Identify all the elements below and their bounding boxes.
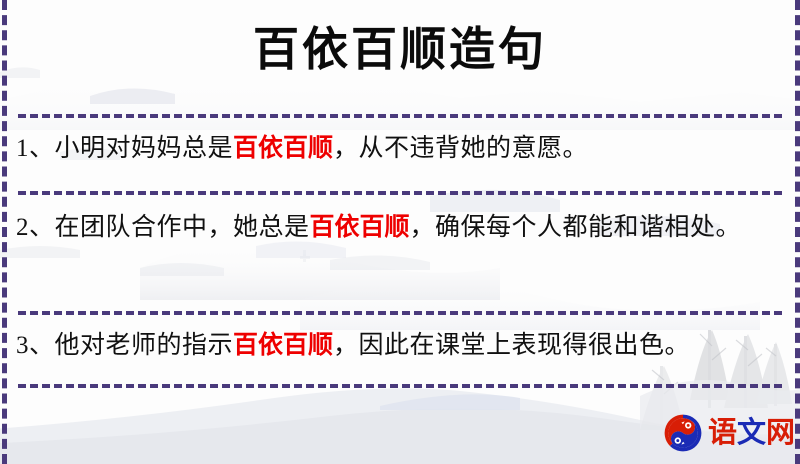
sentence-3-text-after: ，因此在课堂上表现得很出色。 xyxy=(333,332,690,359)
divider-after-sentence-3 xyxy=(18,384,782,388)
sentence-3-text-before: 他对老师的指示 xyxy=(55,332,234,359)
sentence-3-number: 3、 xyxy=(16,332,55,359)
sentence-2-idiom: 百依百顺 xyxy=(310,214,410,241)
site-logo[interactable]: 语文网 xyxy=(663,410,793,456)
sentence-3-idiom: 百依百顺 xyxy=(233,332,333,359)
sentence-1-text-after: ，从不违背她的意愿。 xyxy=(333,135,588,162)
right-dashed-border xyxy=(795,0,800,464)
left-dashed-border xyxy=(2,0,7,464)
logo-char-yu: 语 xyxy=(708,417,737,449)
page-title: 百依百顺造句 xyxy=(0,22,800,78)
divider-after-sentence-2 xyxy=(18,311,782,315)
example-sentence-2: 2、在团队合作中，她总是百依百顺，确保每个人都能和谐相处。 xyxy=(16,205,788,250)
sentence-2-text-before: 在团队合作中，她总是 xyxy=(55,214,310,241)
sentence-1-text-before: 小明对妈妈总是 xyxy=(55,135,234,162)
logo-char-wen: 文 xyxy=(737,417,766,449)
sentence-2-text-after: ，确保每个人都能和谐相处。 xyxy=(410,214,742,241)
divider-after-sentence-1 xyxy=(18,191,782,195)
sentence-1-idiom: 百依百顺 xyxy=(233,135,333,162)
sentence-2-number: 2、 xyxy=(16,214,55,241)
divider-under-title xyxy=(18,114,782,118)
site-logo-text: 语文网 xyxy=(708,416,795,450)
logo-char-wang: 网 xyxy=(766,417,795,449)
example-sentence-3: 3、他对老师的指示百依百顺，因此在课堂上表现得很出色。 xyxy=(16,323,788,368)
example-sentence-1: 1、小明对妈妈总是百依百顺，从不违背她的意愿。 xyxy=(16,126,788,171)
yinyang-fish-circle-icon xyxy=(663,413,703,453)
sentence-1-number: 1、 xyxy=(16,135,55,162)
sentence-card-page: 百依百顺造句 1、小明对妈妈总是百依百顺，从不违背她的意愿。 2、在团队合作中，… xyxy=(0,0,800,464)
